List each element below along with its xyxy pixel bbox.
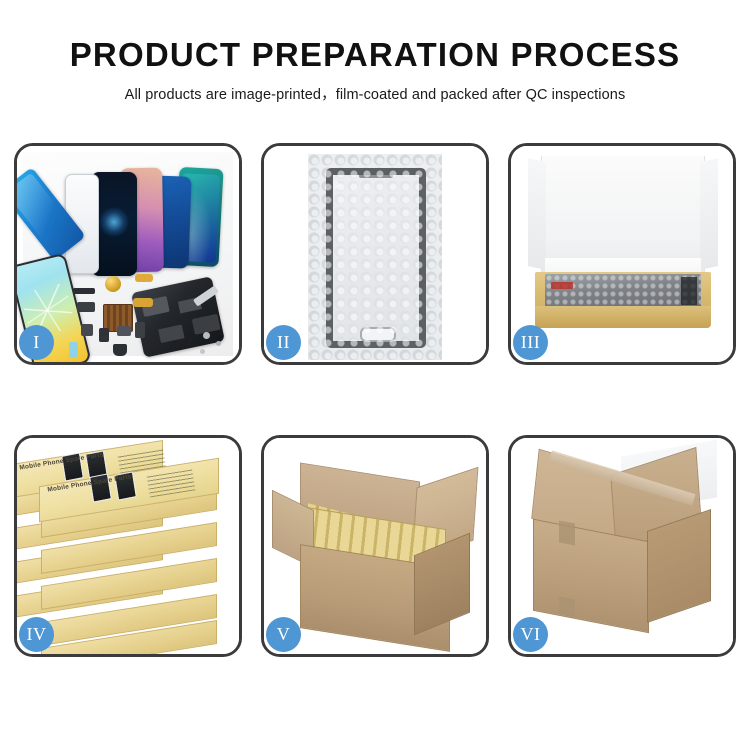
step-panel-3: III: [508, 143, 736, 365]
step-panel-4: Mobile Phone Spare Parts Mobile Phone Sp…: [14, 435, 242, 657]
carton-tape-patch-top-icon: [559, 520, 575, 545]
page-subtitle: All products are image-printed，film-coat…: [0, 83, 750, 104]
step-photo-3: [511, 146, 733, 362]
step-badge-5: V: [266, 617, 301, 652]
page-title: PRODUCT PREPARATION PROCESS: [0, 36, 750, 74]
step-badge-1: I: [19, 325, 54, 360]
header: PRODUCT PREPARATION PROCESS All products…: [0, 36, 750, 104]
part-module-icon: [77, 302, 95, 312]
step-panel-1: I: [14, 143, 242, 365]
wrapped-screen-in-box-icon: [545, 274, 701, 308]
photo-open-carton: [264, 438, 486, 654]
step-photo-2: [264, 146, 486, 362]
part-button-icon: [69, 342, 78, 358]
kraft-tray-front-icon: [535, 306, 711, 328]
part-square-1-icon: [81, 324, 93, 336]
step-photo-4: Mobile Phone Spare Parts Mobile Phone Sp…: [17, 438, 239, 654]
photo-stacked-boxes: Mobile Phone Spare Parts Mobile Phone Sp…: [17, 438, 239, 654]
photo-sealed-carton: [511, 438, 733, 654]
step-badge-3: III: [513, 325, 548, 360]
part-square-3-icon: [117, 326, 131, 336]
part-gold-coil-icon: [105, 276, 121, 292]
part-flex-cable-2-icon: [133, 298, 153, 307]
step-panel-5: V: [261, 435, 489, 657]
part-square-4-icon: [135, 322, 145, 338]
part-speaker-icon: [113, 344, 127, 356]
part-screws-icon: [203, 332, 210, 339]
part-square-2-icon: [99, 328, 109, 342]
box-stack: Mobile Phone Spare Parts Mobile Phone Sp…: [17, 438, 239, 654]
photo-inner-kraft-box: [511, 146, 733, 362]
photo-product-lineup: [17, 146, 239, 362]
phone-screen-panel-icon: [326, 168, 426, 348]
part-connector-bar-icon: [73, 288, 95, 294]
photo-bubble-wrapped-screen: [264, 146, 486, 362]
step-badge-2: II: [266, 325, 301, 360]
step-photo-5: [264, 438, 486, 654]
step-panel-6: VI: [508, 435, 736, 657]
box-lid-open-icon: [541, 156, 705, 274]
step-panel-2: II: [261, 143, 489, 365]
step-badge-4: IV: [19, 617, 54, 652]
step-badge-6: VI: [513, 617, 548, 652]
carton-tape-patch-bottom-icon: [559, 596, 575, 617]
part-flex-cable-1-icon: [135, 274, 153, 282]
process-steps-grid: I II: [14, 143, 736, 679]
step-photo-1: [17, 146, 239, 362]
step-photo-6: [511, 438, 733, 654]
product-preparation-infographic: PRODUCT PREPARATION PROCESS All products…: [0, 0, 750, 750]
